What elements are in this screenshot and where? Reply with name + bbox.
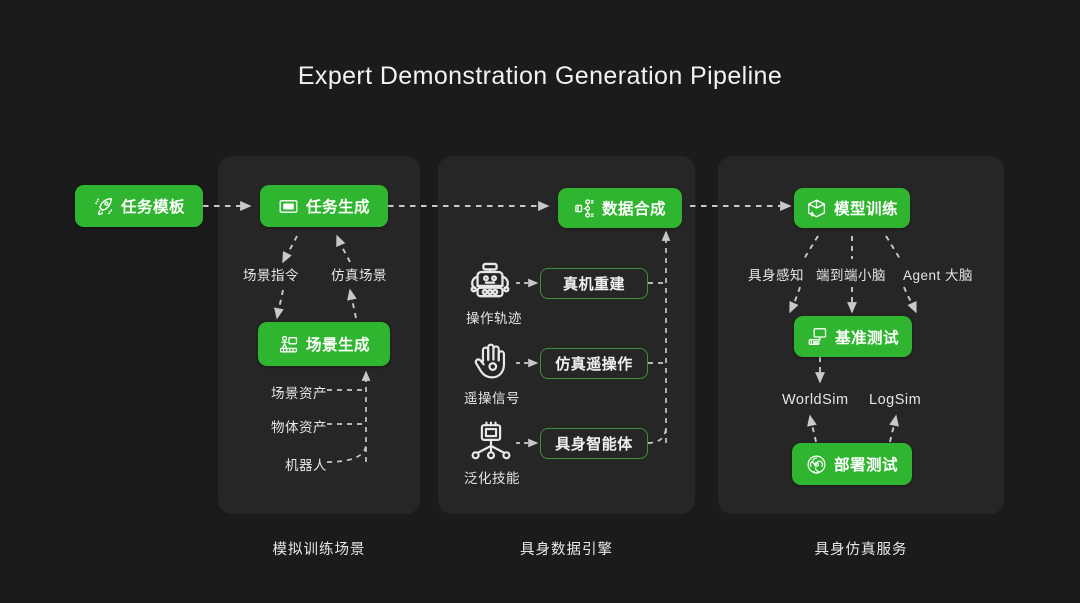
node-label: 数据合成 bbox=[602, 197, 666, 219]
scene-robot-icon bbox=[278, 334, 299, 355]
asset-label-object-assets: 物体资产 bbox=[237, 416, 327, 436]
svg-text:PL: PL bbox=[285, 204, 292, 210]
edge-label-agent-brain: Agent 大脑 bbox=[903, 264, 973, 284]
edge-label-embodied-perception: 具身感知 bbox=[748, 264, 804, 284]
node-label: 真机重建 bbox=[563, 273, 625, 294]
network-chip-icon bbox=[470, 421, 512, 463]
data-nodes-icon bbox=[574, 198, 595, 219]
node-scene-generation[interactable]: 场景生成 bbox=[258, 322, 390, 366]
node-benchmark-test[interactable]: 基准测试 bbox=[794, 316, 912, 357]
node-label: 任务生成 bbox=[306, 195, 370, 217]
node-task-generation[interactable]: PL 任务生成 bbox=[260, 185, 388, 227]
node-model-training[interactable]: 模型训练 bbox=[794, 188, 910, 228]
node-label: 任务模板 bbox=[121, 195, 185, 217]
node-label: 部署测试 bbox=[834, 453, 898, 475]
panel-caption-embodied-data-engine: 具身数据引擎 bbox=[438, 538, 695, 559]
node-real-machine-reconstruction[interactable]: 真机重建 bbox=[540, 268, 648, 299]
diagram-canvas: Expert Demonstration Generation Pipeline bbox=[0, 0, 1080, 603]
pl-frame-icon: PL bbox=[278, 196, 299, 217]
page-title: Expert Demonstration Generation Pipeline bbox=[0, 62, 1080, 91]
source-label-generalization-skill: 泛化技能 bbox=[464, 467, 520, 487]
node-label: 基准测试 bbox=[835, 326, 899, 348]
node-task-template[interactable]: 任务模板 bbox=[75, 185, 203, 227]
monitor-icon bbox=[807, 326, 828, 347]
robot-icon bbox=[468, 261, 512, 305]
source-label-operation-trajectory: 操作轨迹 bbox=[466, 307, 522, 327]
sim-label-logsim: LogSim bbox=[869, 392, 921, 408]
panel-caption-simulation-training-scene: 模拟训练场景 bbox=[218, 538, 420, 559]
asset-label-scene-assets: 场景资产 bbox=[237, 382, 327, 402]
edge-label-end-to-end-cerebellum: 端到端小脑 bbox=[816, 264, 886, 284]
node-simulated-teleoperation[interactable]: 仿真遥操作 bbox=[540, 348, 648, 379]
node-label: 模型训练 bbox=[834, 197, 898, 219]
panel-caption-embodied-simulation-service: 具身仿真服务 bbox=[718, 538, 1004, 559]
glove-icon bbox=[470, 341, 512, 383]
cube-arrow-icon bbox=[806, 198, 827, 219]
swirl-icon bbox=[806, 454, 827, 475]
rocket-icon bbox=[93, 196, 114, 217]
node-label: 具身智能体 bbox=[555, 433, 633, 454]
source-label-teleop-signal: 遥操信号 bbox=[464, 387, 520, 407]
node-embodied-agent[interactable]: 具身智能体 bbox=[540, 428, 648, 459]
node-data-synthesis[interactable]: 数据合成 bbox=[558, 188, 682, 228]
asset-label-robot: 机器人 bbox=[237, 454, 327, 474]
node-label: 场景生成 bbox=[306, 333, 370, 355]
sim-label-worldsim: WorldSim bbox=[782, 392, 849, 408]
node-label: 仿真遥操作 bbox=[555, 353, 633, 374]
edge-label-simulation-scene: 仿真场景 bbox=[331, 264, 387, 284]
edge-label-scene-instruction: 场景指令 bbox=[243, 264, 299, 284]
node-deploy-test[interactable]: 部署测试 bbox=[792, 443, 912, 485]
